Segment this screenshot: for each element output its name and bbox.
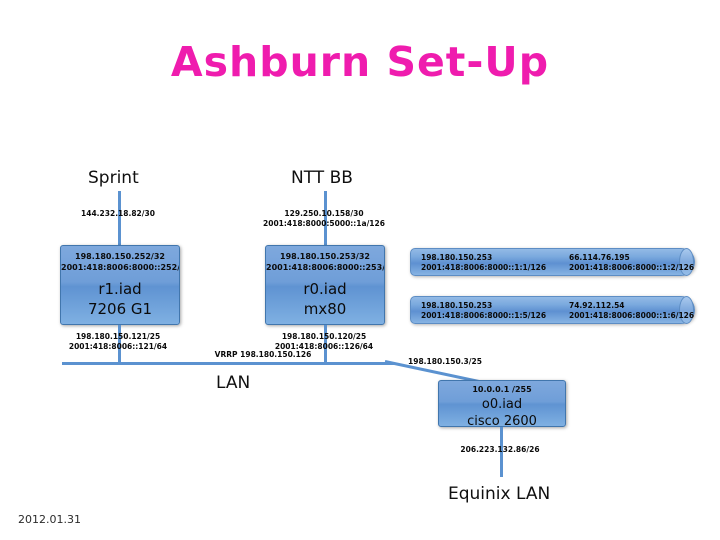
network-diagram-slide: Ashburn Set-Up Sprint NTT BB Equinix LAN…	[0, 0, 720, 540]
device-hostname-o0-iad: o0.iad	[439, 396, 565, 413]
tunnel-2-right-ipv6: 2001:418:8006:8000::1:6/126	[569, 311, 694, 321]
tunnel-1-left-ipv6: 2001:418:8006:8000::1:1/126	[421, 263, 546, 273]
carrier-label-sprint: Sprint	[88, 168, 139, 188]
link-label-r1-lan-ipv6: 2001:418:8006::121/64	[48, 342, 188, 352]
link-label-r1-lan-ipv4: 198.180.150.121/25	[48, 332, 188, 342]
tunnel-cylinder-1[interactable]: 198.180.150.253 2001:418:8006:8000::1:1/…	[410, 248, 695, 276]
link-label-ntt-ipv6: 2001:418:8000:5000::1a/126	[254, 219, 394, 229]
device-box-r0-iad[interactable]: 198.180.150.253/32 2001:418:8006:8000::2…	[265, 245, 385, 325]
tunnel-1-right-ipv6: 2001:418:8006:8000::1:2/126	[569, 263, 694, 273]
lan-vrrp-label: VRRP 198.180.150.126	[183, 350, 343, 360]
device-hostname-r0-iad: r0.iad	[266, 279, 384, 299]
device-model-o0-iad: cisco 2600	[439, 413, 565, 427]
link-label-sprint: 144.232.18.82/30	[48, 209, 188, 219]
device-hostname-r1-iad: r1.iad	[61, 279, 179, 299]
device-ipv4-o0-iad: 10.0.0.1 /255	[439, 384, 565, 395]
tunnel-cylinder-2[interactable]: 198.180.150.253 2001:418:8006:8000::1:5/…	[410, 296, 695, 324]
device-model-r1-iad: 7206 G1	[61, 299, 179, 319]
device-ipv4-r1-iad: 198.180.150.252/32	[61, 251, 179, 262]
device-model-r0-iad: mx80	[266, 299, 384, 319]
device-ipv4-r0-iad: 198.180.150.253/32	[266, 251, 384, 262]
link-label-equinix: 206.223.132.86/26	[440, 445, 560, 455]
device-box-o0-iad[interactable]: 10.0.0.1 /255 o0.iad cisco 2600	[438, 380, 566, 427]
slide-date: 2012.01.31	[18, 513, 81, 526]
device-box-r1-iad[interactable]: 198.180.150.252/32 2001:418:8006:8000::2…	[60, 245, 180, 325]
tunnel-2-left-ipv4: 198.180.150.253	[421, 301, 492, 311]
tunnel-1-left-ipv4: 198.180.150.253	[421, 253, 492, 263]
carrier-label-ntt-bb: NTT BB	[291, 168, 353, 188]
lan-label: LAN	[216, 373, 250, 393]
page-title: Ashburn Set-Up	[0, 38, 720, 86]
tunnel-2-left-ipv6: 2001:418:8006:8000::1:5/126	[421, 311, 546, 321]
lan-backbone-line	[62, 362, 395, 365]
device-ipv6-r1-iad: 2001:418:8006:8000::252/128	[61, 262, 179, 273]
link-label-o0-lan: 198.180.150.3/25	[405, 357, 485, 367]
device-ipv6-r0-iad: 2001:418:8006:8000::253/128	[266, 262, 384, 273]
tunnel-1-right-ipv4: 66.114.76.195	[569, 253, 630, 263]
carrier-label-equinix-lan: Equinix LAN	[448, 484, 550, 504]
tunnel-2-right-ipv4: 74.92.112.54	[569, 301, 625, 311]
link-label-r0-lan-ipv4: 198.180.150.120/25	[254, 332, 394, 342]
link-label-ntt-ipv4: 129.250.10.158/30	[254, 209, 394, 219]
